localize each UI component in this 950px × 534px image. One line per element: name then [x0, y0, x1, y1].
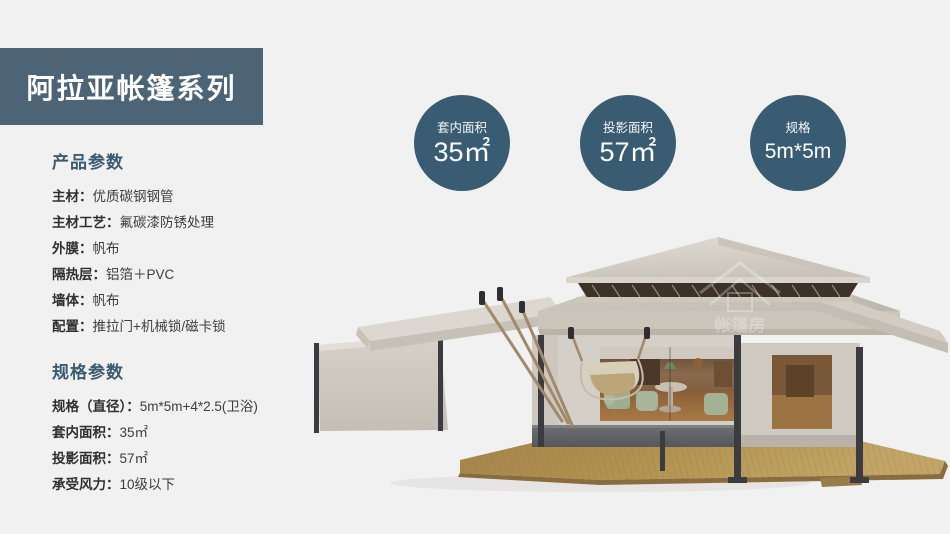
- stat-label: 规格: [785, 120, 810, 136]
- interior-wardrobe: [786, 365, 814, 397]
- spec-value: 帆布: [93, 293, 120, 308]
- stat-value: 57㎡: [599, 137, 656, 167]
- interior-wall-art: [693, 358, 703, 368]
- spec-value: 推拉门+机械锁/磁卡锁: [93, 319, 226, 334]
- spec-label: 配置：: [52, 319, 93, 334]
- spec-value: 帆布: [93, 241, 120, 256]
- stat-badge-interior-area: 套内面积 35㎡: [414, 95, 510, 191]
- section-heading-product: 产品参数: [52, 152, 352, 174]
- watermark-text: 帐篷房: [715, 315, 766, 335]
- stat-label: 套内面积: [437, 120, 487, 136]
- spec-label: 套内面积：: [52, 425, 120, 440]
- spec-label: 隔热层：: [52, 267, 106, 282]
- left-awning-roof: [356, 297, 562, 351]
- spec-label: 规格（直径）：: [52, 399, 140, 414]
- interior-shelf: [714, 361, 732, 387]
- roof-cupola: [566, 237, 870, 302]
- spec-label: 墙体：: [52, 293, 93, 308]
- title-banner: 阿拉亚帐篷系列: [0, 48, 263, 125]
- stat-value: 5m*5m: [765, 137, 832, 167]
- list-item: 主材：优质碳钢钢管: [52, 184, 352, 210]
- stat-badge-dimensions: 规格 5m*5m: [750, 95, 846, 191]
- spec-value: 氟碳漆防锈处理: [120, 215, 215, 230]
- spec-label: 主材：: [52, 189, 93, 204]
- stat-label: 投影面积: [603, 120, 653, 136]
- stone-base: [532, 425, 740, 447]
- spec-value: 铝箔＋PVC: [106, 267, 174, 282]
- spec-value: 5m*5m+4*2.5(卫浴): [140, 399, 258, 414]
- tent-illustration: 帐篷房: [300, 235, 950, 505]
- interior-armchair: [636, 391, 658, 411]
- spec-value: 10级以下: [120, 477, 176, 492]
- spec-label: 主材工艺：: [52, 215, 120, 230]
- spec-value: 35㎡: [120, 425, 149, 440]
- spec-label: 外膜：: [52, 241, 93, 256]
- stat-badge-projected-area: 投影面积 57㎡: [580, 95, 676, 191]
- spec-value: 57㎡: [120, 451, 149, 466]
- interior-armchair: [704, 393, 728, 415]
- stat-value: 35㎡: [433, 137, 490, 167]
- tent-render-svg: 帐篷房: [300, 235, 950, 505]
- page-title: 阿拉亚帐篷系列: [26, 67, 236, 107]
- list-item: 主材工艺：氟碳漆防锈处理: [52, 210, 352, 236]
- product-spec-slide: 阿拉亚帐篷系列 产品参数 主材：优质碳钢钢管 主材工艺：氟碳漆防锈处理 外膜：帆…: [0, 0, 950, 534]
- spec-label: 承受风力：: [52, 477, 120, 492]
- right-wall: [740, 343, 860, 447]
- spec-value: 优质碳钢钢管: [93, 189, 174, 204]
- spec-label: 投影面积：: [52, 451, 120, 466]
